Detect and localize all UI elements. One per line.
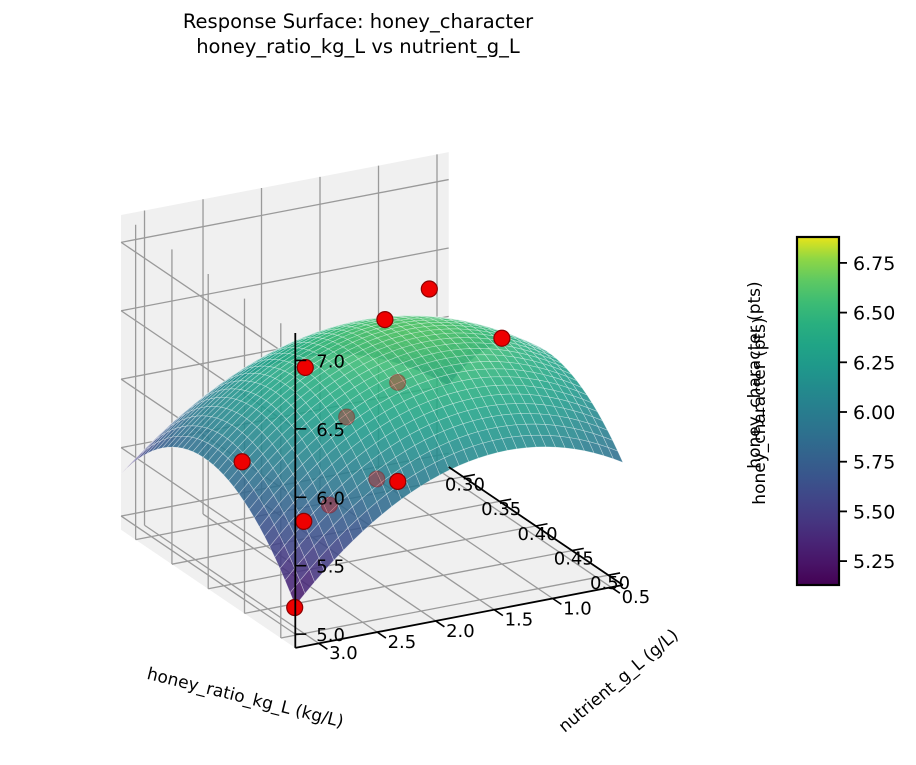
colorbar-tick-label: 6.50 <box>853 303 895 325</box>
scatter-point[interactable] <box>297 359 313 375</box>
y-tick-label: 3.0 <box>329 643 358 664</box>
x-tick-label: 0.40 <box>517 524 557 545</box>
colorbar-tick-label: 5.50 <box>853 501 895 523</box>
colorbar-tick-label: 6.00 <box>853 402 895 424</box>
scatter-point[interactable] <box>390 473 406 489</box>
y-tick-label: 1.0 <box>563 598 592 619</box>
y-tick-label: 1.5 <box>505 610 534 631</box>
scatter-point[interactable] <box>494 330 510 346</box>
response-surface-figure: Response Surface: honey_character honey_… <box>0 0 916 765</box>
y-tick-label: 2.0 <box>446 621 475 642</box>
chart-title-line2: honey_ratio_kg_L vs nutrient_g_L <box>196 35 520 58</box>
colorbar-label: honey_character (pts) <box>750 317 770 504</box>
y-tick-label: 2.5 <box>388 632 417 653</box>
scatter-point[interactable] <box>421 281 437 297</box>
colorbar-tick-label: 5.25 <box>853 551 895 573</box>
chart-title-line1: Response Surface: honey_character <box>183 10 534 33</box>
z-tick-label: 6.5 <box>316 420 345 441</box>
z-tick-label: 6.0 <box>316 488 345 509</box>
x-tick-label: 0.35 <box>481 499 521 520</box>
scatter-point[interactable] <box>390 374 406 390</box>
colorbar-tick-label: 6.75 <box>853 253 895 275</box>
scatter-point[interactable] <box>296 513 312 529</box>
colorbar-tick-label: 5.75 <box>853 452 895 474</box>
x-tick-label: 0.30 <box>445 475 485 496</box>
colorbar-gradient <box>797 237 839 585</box>
y-tick-label: 0.5 <box>622 587 651 608</box>
z-tick-label: 7.0 <box>316 351 345 372</box>
z-tick-label: 5.5 <box>316 557 345 578</box>
scatter-point[interactable] <box>369 471 385 487</box>
colorbar-tick-label: 6.25 <box>853 352 895 374</box>
z-tick-label: 5.0 <box>316 625 345 646</box>
scatter-point[interactable] <box>377 312 393 328</box>
scatter-point[interactable] <box>234 454 250 470</box>
x-tick-label: 0.45 <box>554 548 594 569</box>
